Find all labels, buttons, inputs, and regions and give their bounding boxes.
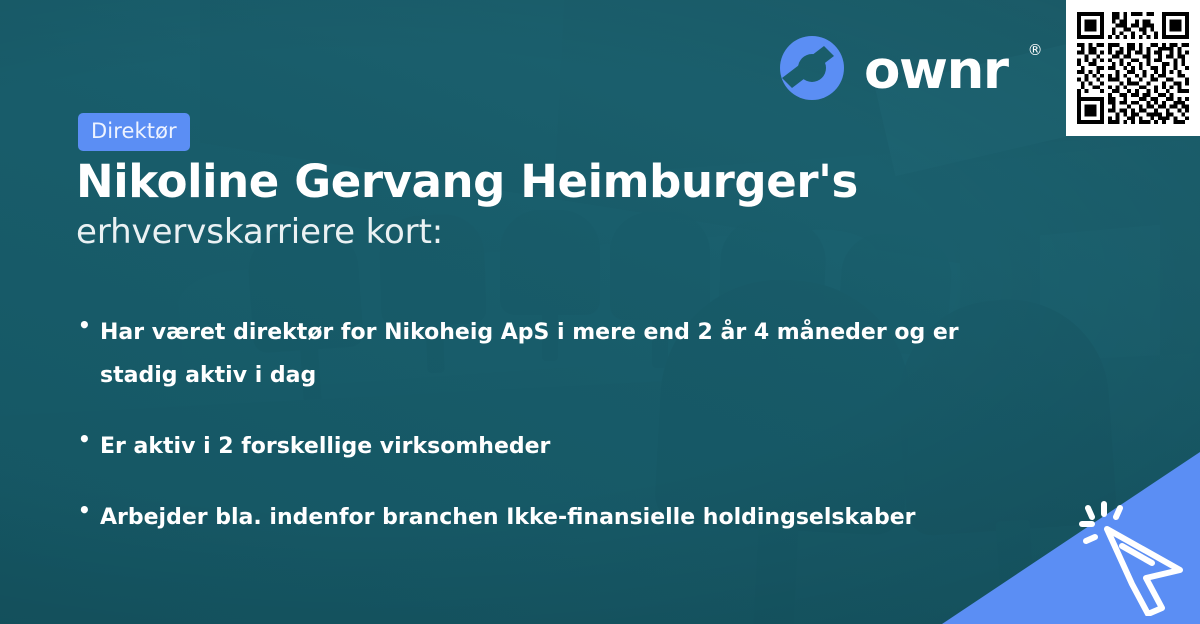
list-item-text: Har været direktør for Nikoheig ApS i me… bbox=[100, 312, 978, 398]
ownr-wordmark: ownr bbox=[864, 44, 1008, 97]
role-badge: Direktør bbox=[78, 113, 190, 151]
click-cursor-icon bbox=[1074, 496, 1194, 616]
list-item: • Har været direktør for Nikoheig ApS i … bbox=[78, 312, 978, 398]
business-card: Direktør Nikoline Gervang Heimburger's e… bbox=[0, 0, 1200, 624]
list-item: • Er aktiv i 2 forskellige virksomheder bbox=[78, 426, 978, 469]
list-item-text: Er aktiv i 2 forskellige virksomheder bbox=[100, 426, 978, 469]
qr-code[interactable] bbox=[1066, 0, 1200, 136]
list-item-text: Arbejder bla. indenfor branchen Ikke-fin… bbox=[100, 497, 978, 540]
career-summary-list: • Har været direktør for Nikoheig ApS i … bbox=[78, 312, 978, 568]
ownr-circle-swirl-icon bbox=[778, 34, 846, 102]
registered-trademark-icon: ® bbox=[1028, 43, 1043, 58]
page-subtitle: erhvervskarriere kort: bbox=[76, 212, 443, 252]
bullet-marker-icon: • bbox=[78, 312, 100, 338]
bullet-marker-icon: • bbox=[78, 426, 100, 452]
ownr-logo: ownr ® bbox=[778, 34, 1041, 102]
bullet-marker-icon: • bbox=[78, 497, 100, 523]
list-item: • Arbejder bla. indenfor branchen Ikke-f… bbox=[78, 497, 978, 540]
page-title: Nikoline Gervang Heimburger's bbox=[76, 155, 858, 208]
